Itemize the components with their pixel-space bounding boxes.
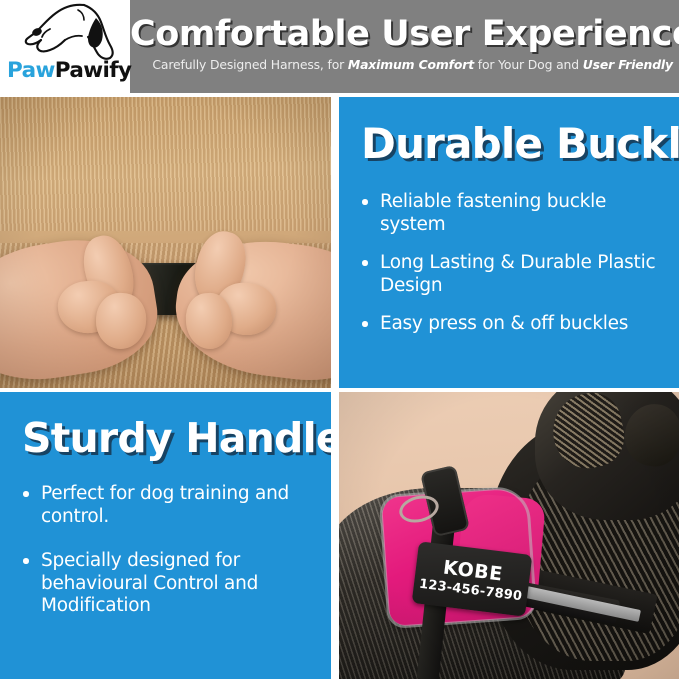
list-item: Reliable fastening buckle system bbox=[361, 191, 659, 236]
harness-photo: KOBE 123-456-7890 bbox=[339, 392, 679, 679]
header-subtitle-emphasis-1: Maximum Comfort bbox=[348, 57, 474, 72]
bullet-text: Easy press on & off buckles bbox=[380, 313, 628, 334]
bullet-dot-icon bbox=[362, 260, 368, 266]
product-infographic-poster: PawPawify Comfortable User Experience Ca… bbox=[0, 0, 679, 679]
header-banner: PawPawify Comfortable User Experience Ca… bbox=[0, 0, 679, 93]
list-item: Long Lasting & Durable Plastic Design bbox=[361, 252, 659, 297]
buckle-photo bbox=[0, 97, 331, 388]
bullet-text: Reliable fastening buckle system bbox=[380, 191, 606, 235]
list-item: Easy press on & off buckles bbox=[361, 313, 659, 336]
header-text-bar: Comfortable User Experience Carefully De… bbox=[130, 0, 679, 93]
header-subtitle-middle: for Your Dog and bbox=[474, 57, 583, 72]
bullet-text: Perfect for dog training and control. bbox=[41, 483, 289, 527]
brand-logo: PawPawify bbox=[0, 0, 130, 93]
list-item: Perfect for dog training and control. bbox=[22, 483, 311, 528]
sturdy-handle-panel: Sturdy Handle Perfect for dog training a… bbox=[0, 392, 331, 679]
bullet-dot-icon bbox=[362, 321, 368, 327]
header-title: Comfortable User Experience bbox=[130, 17, 679, 53]
sturdy-handle-content: Sturdy Handle Perfect for dog training a… bbox=[0, 392, 331, 679]
header-subtitle: Carefully Designed Harness, for Maximum … bbox=[152, 57, 673, 72]
list-item: Specially designed for behavioural Contr… bbox=[22, 550, 311, 618]
brand-name-part-1: Paw bbox=[7, 58, 55, 83]
sturdy-handle-bullet-list: Perfect for dog training and control. Sp… bbox=[22, 483, 311, 618]
durable-buckle-bullet-list: Reliable fastening buckle system Long La… bbox=[361, 191, 659, 336]
bullet-dot-icon bbox=[23, 491, 29, 497]
sturdy-handle-title: Sturdy Handle bbox=[22, 418, 311, 459]
durable-buckle-panel: Durable Buckle Reliable fastening buckle… bbox=[339, 97, 679, 388]
harness-photo-scene: KOBE 123-456-7890 bbox=[339, 392, 679, 679]
header-subtitle-emphasis-2: User Friendly bbox=[583, 57, 673, 72]
durable-buckle-title: Durable Buckle bbox=[361, 123, 659, 165]
durable-buckle-content: Durable Buckle Reliable fastening buckle… bbox=[339, 97, 679, 388]
bullet-text: Long Lasting & Durable Plastic Design bbox=[380, 252, 655, 296]
buckle-photo-scene bbox=[0, 97, 331, 388]
dog-head-icon bbox=[22, 2, 118, 62]
brand-wordmark: PawPawify bbox=[7, 58, 127, 83]
dog-fur-upper-texture bbox=[0, 97, 331, 231]
brand-name-part-2: Pawify bbox=[55, 58, 132, 83]
bullet-dot-icon bbox=[362, 199, 368, 205]
bullet-text: Specially designed for behavioural Contr… bbox=[41, 550, 258, 616]
bullet-dot-icon bbox=[23, 558, 29, 564]
header-subtitle-prefix: Carefully Designed Harness, for bbox=[152, 57, 348, 72]
